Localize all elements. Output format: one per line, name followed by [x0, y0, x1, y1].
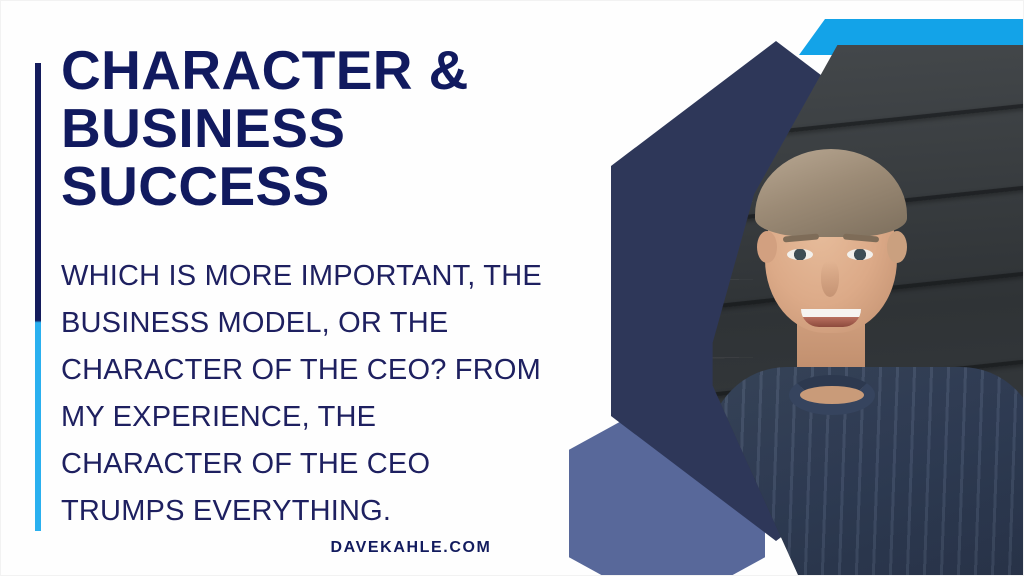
slide-canvas: CHARACTER & BUSINESS SUCCESS WHICH IS MO…: [0, 0, 1024, 576]
portrait-ear-left: [757, 231, 777, 263]
page-title: CHARACTER & BUSINESS SUCCESS: [61, 41, 561, 215]
body-copy: WHICH IS MORE IMPORTANT, THE BUSINESS MO…: [61, 253, 561, 535]
website-url: DAVEKAHLE.COM: [61, 539, 761, 557]
portrait-mouth: [801, 309, 861, 327]
portrait-nose: [821, 261, 839, 297]
portrait-eye-left: [787, 249, 813, 260]
portrait-sweater-collar: [789, 375, 875, 415]
portrait-hair: [755, 149, 907, 237]
portrait-ear-right: [887, 231, 907, 263]
vertical-accent-bar: [35, 63, 41, 531]
graphic-stack: [553, 1, 1023, 576]
portrait-eye-right: [847, 249, 873, 260]
